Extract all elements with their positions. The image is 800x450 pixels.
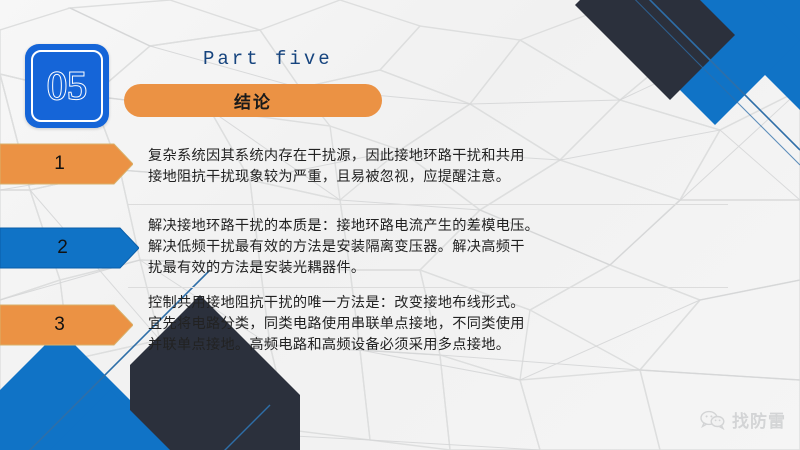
- part-label: Part five: [203, 48, 333, 70]
- item-number-3: 3: [0, 303, 119, 347]
- item-text-2: 解决接地环路干扰的本质是：接地环路电流产生的差模电压。 解决低频干扰最有效的方法…: [148, 216, 800, 279]
- page-title: 结论: [124, 84, 382, 117]
- item-number-arrow: 2: [0, 226, 139, 270]
- slide-root: 05 Part five 结论 1 复杂系统因其系统内存在干扰源，因此接地环路干…: [0, 0, 800, 450]
- item-number-2: 2: [0, 226, 125, 270]
- section-number-text: 05: [25, 44, 109, 128]
- watermark: 找防雷: [700, 407, 786, 432]
- item-number-arrow: 1: [0, 142, 133, 186]
- item-text-3: 控制共用接地阻抗干扰的唯一方法是：改变接地布线形式。 宜先将电路分类，同类电路使…: [148, 293, 800, 356]
- wechat-icon: [700, 410, 726, 430]
- row-divider: [128, 287, 728, 288]
- item-text-1: 复杂系统因其系统内存在干扰源，因此接地环路干扰和共用 接地阻抗干扰现象较为严重，…: [148, 146, 800, 188]
- section-number-badge: 05: [25, 44, 109, 128]
- row-divider: [128, 204, 728, 205]
- watermark-text: 找防雷: [732, 407, 786, 432]
- list-item: 1 复杂系统因其系统内存在干扰源，因此接地环路干扰和共用 接地阻抗干扰现象较为严…: [0, 142, 800, 204]
- conclusion-list: 1 复杂系统因其系统内存在干扰源，因此接地环路干扰和共用 接地阻抗干扰现象较为严…: [0, 142, 800, 356]
- list-item: 3 控制共用接地阻抗干扰的唯一方法是：改变接地布线形式。 宜先将电路分类，同类电…: [0, 280, 800, 356]
- item-number-1: 1: [0, 142, 119, 186]
- list-item: 2 解决接地环路干扰的本质是：接地环路电流产生的差模电压。 解决低频干扰最有效的…: [0, 204, 800, 280]
- item-number-arrow: 3: [0, 303, 133, 347]
